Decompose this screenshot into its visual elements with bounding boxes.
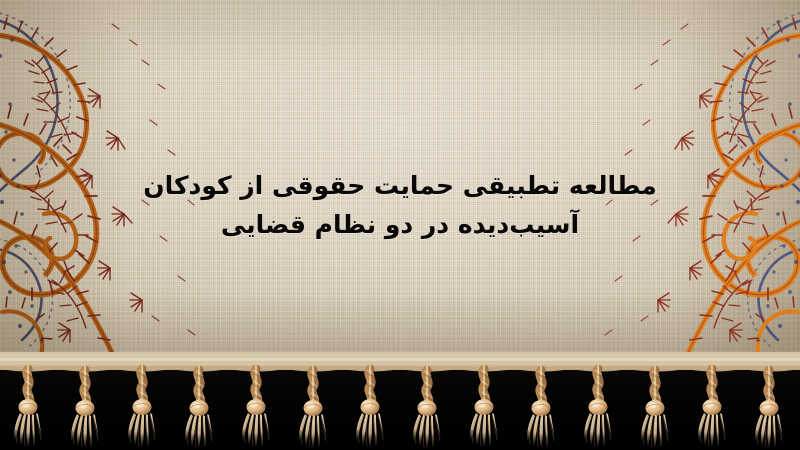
slide-title: مطالعه تطبیقی حمایت حقوقی از کودکان آسیب… <box>0 166 800 244</box>
title-line-2: آسیب‌دیده در دو نظام قضایی <box>0 205 800 244</box>
slide-canvas: مطالعه تطبیقی حمایت حقوقی از کودکان آسیب… <box>0 0 800 450</box>
title-line-1: مطالعه تطبیقی حمایت حقوقی از کودکان <box>0 166 800 205</box>
tassel-fringe <box>0 352 800 450</box>
